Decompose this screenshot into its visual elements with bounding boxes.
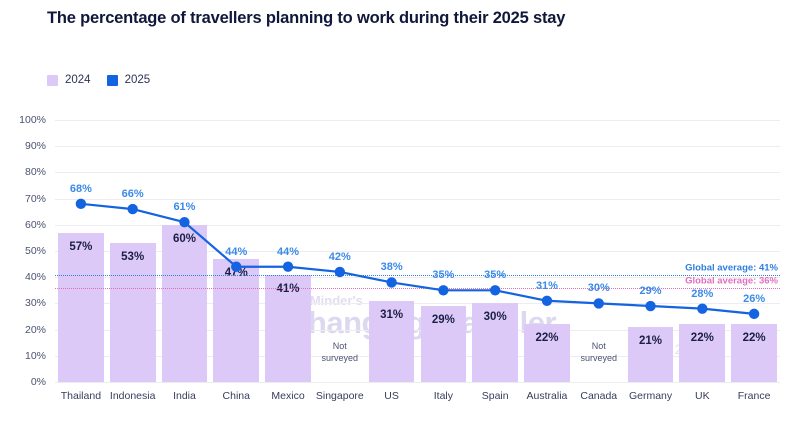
line-value-label: 61% [173, 201, 195, 213]
y-axis-tick-label: 60% [25, 219, 46, 231]
legend-swatch-2024 [47, 75, 58, 86]
chart-container: The percentage of travellers planning to… [0, 0, 800, 426]
y-axis-tick-label: 100% [19, 114, 46, 126]
x-axis-label: Thailand [61, 390, 101, 402]
x-axis-label: Italy [434, 390, 453, 402]
data-point-marker[interactable] [438, 285, 448, 295]
data-point-marker[interactable] [645, 301, 655, 311]
data-point-marker[interactable] [231, 262, 241, 272]
legend-swatch-2025 [107, 75, 118, 86]
line-value-label: 68% [70, 183, 92, 195]
x-axis-labels: ThailandIndonesiaIndiaChinaMexicoSingapo… [55, 390, 780, 410]
line-value-label: 42% [329, 251, 351, 263]
plot-area: 0%10%20%30%40%50%60%70%80%90%100%57%53%6… [55, 120, 780, 382]
y-axis-tick-label: 50% [25, 245, 46, 257]
line-value-label: 28% [691, 288, 713, 300]
y-axis-tick-label: 20% [25, 324, 46, 336]
data-point-marker[interactable] [697, 303, 707, 313]
y-axis-tick-label: 40% [25, 271, 46, 283]
data-point-marker[interactable] [76, 199, 86, 209]
data-point-marker[interactable] [594, 298, 604, 308]
page-title: The percentage of travellers planning to… [47, 9, 565, 28]
line-value-label: 29% [640, 285, 662, 297]
x-axis-label: India [173, 390, 196, 402]
x-axis-label: Indonesia [110, 390, 156, 402]
y-axis-tick-label: 90% [25, 140, 46, 152]
line-value-label: 35% [484, 269, 506, 281]
line-value-label: 35% [432, 269, 454, 281]
y-axis-tick-label: 10% [25, 350, 46, 362]
line-value-label: 38% [381, 261, 403, 273]
line-value-label: 44% [277, 246, 299, 258]
legend-item-2024[interactable]: 2024 [47, 75, 91, 87]
x-axis-label: France [738, 390, 771, 402]
x-axis-label: Australia [527, 390, 568, 402]
x-axis-label: Spain [482, 390, 509, 402]
data-point-marker[interactable] [749, 309, 759, 319]
data-point-marker[interactable] [127, 204, 137, 214]
line-value-label: 30% [588, 282, 610, 294]
x-axis-label: UK [695, 390, 710, 402]
y-axis-tick-label: 80% [25, 166, 46, 178]
x-axis-label: Mexico [271, 390, 304, 402]
y-axis-tick-label: 30% [25, 297, 46, 309]
data-point-marker[interactable] [386, 277, 396, 287]
data-point-marker[interactable] [179, 217, 189, 227]
x-axis-label: US [384, 390, 399, 402]
legend-label-2024: 2024 [65, 75, 91, 87]
data-point-marker[interactable] [542, 296, 552, 306]
grid-line [55, 382, 780, 383]
x-axis-label: Singapore [316, 390, 364, 402]
y-axis-tick-label: 70% [25, 193, 46, 205]
line-value-label: 44% [225, 246, 247, 258]
x-axis-label: Canada [580, 390, 617, 402]
line-value-label: 31% [536, 280, 558, 292]
legend-item-2025[interactable]: 2025 [107, 75, 151, 87]
data-point-marker[interactable] [283, 262, 293, 272]
line-value-label: 66% [122, 188, 144, 200]
line-series-2025 [55, 120, 780, 382]
line-value-label: 26% [743, 293, 765, 305]
data-point-marker[interactable] [490, 285, 500, 295]
chart-legend: 2024 2025 [47, 75, 150, 87]
x-axis-label: Germany [629, 390, 672, 402]
data-point-marker[interactable] [335, 267, 345, 277]
y-axis-tick-label: 0% [31, 376, 46, 388]
x-axis-label: China [223, 390, 250, 402]
legend-label-2025: 2025 [125, 75, 151, 87]
